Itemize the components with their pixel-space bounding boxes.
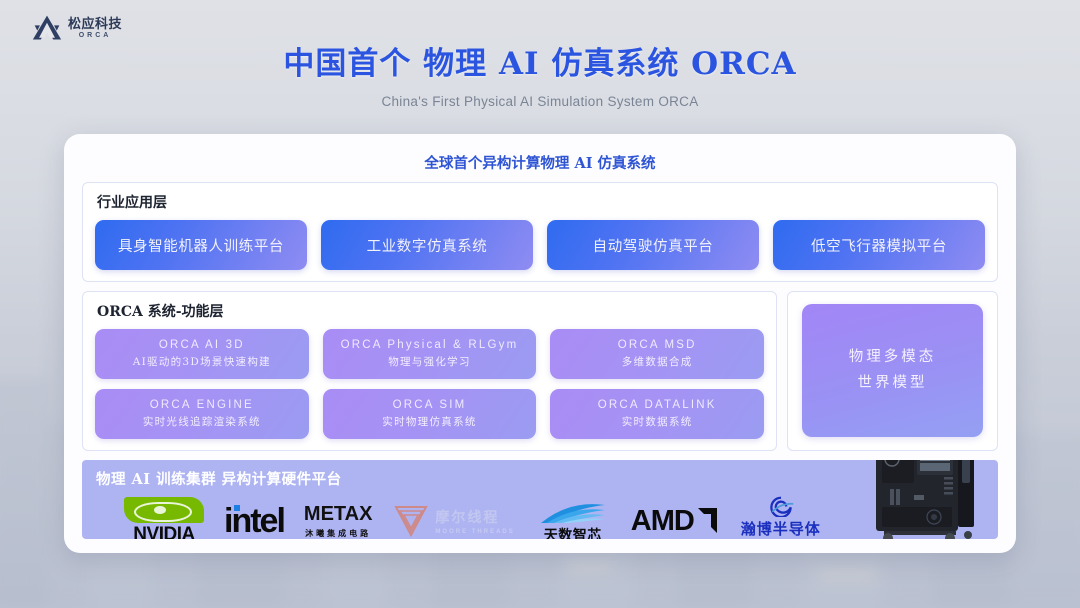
intel-wordmark: intel bbox=[224, 502, 284, 539]
function-item-title: ORCA ENGINE bbox=[150, 399, 254, 411]
function-item-desc: 实时光线追踪渲染系统 bbox=[143, 414, 261, 429]
architecture-card: 全球首个异构计算物理 AI 仿真系统 行业应用层 具身智能机器人训练平台 工业数… bbox=[64, 134, 1016, 553]
function-item-title: ORCA SIM bbox=[393, 399, 467, 411]
industry-item-low-altitude-aircraft-sim[interactable]: 低空飞行器模拟平台 bbox=[773, 220, 985, 270]
function-layer-grid: ORCA AI 3D AI驱动的3D场景快速构建 ORCA Physical &… bbox=[95, 329, 764, 439]
moore-threads-name-en: MOORE THREADS bbox=[435, 529, 514, 535]
function-item-title: ORCA DATALINK bbox=[598, 399, 717, 411]
server-rack-cabinet-photo bbox=[862, 460, 982, 539]
moore-threads-triangle-icon bbox=[392, 501, 430, 539]
metax-logo: METAX 沐曦集成电路 bbox=[304, 503, 373, 539]
function-item-title: ORCA MSD bbox=[618, 339, 697, 351]
world-model-panel: 物理多模态 世界模型 bbox=[787, 291, 998, 451]
vastai-swirl-icon bbox=[761, 496, 801, 517]
function-item-orca-physical-rlgym[interactable]: ORCA Physical & RLGym 物理与强化学习 bbox=[323, 329, 537, 379]
function-item-desc: 实时物理仿真系统 bbox=[382, 414, 476, 429]
amd-arrow-icon bbox=[695, 507, 718, 534]
function-item-desc: AI驱动的3D场景快速构建 bbox=[133, 354, 271, 369]
industry-layer-panel: 行业应用层 具身智能机器人训练平台 工业数字仿真系统 自动驾驶仿真平台 低空飞行… bbox=[82, 182, 998, 282]
function-item-desc: 物理与强化学习 bbox=[388, 354, 471, 369]
vendor-logo-row: NVIDIA intel METAX 沐曦集成电路 bbox=[96, 493, 984, 539]
page-subtitle: China's First Physical AI Simulation Sys… bbox=[0, 94, 1080, 109]
moore-threads-logo: 摩尔线程 MOORE THREADS bbox=[392, 501, 514, 539]
function-item-title: ORCA AI 3D bbox=[159, 339, 245, 351]
function-item-desc: 多维数据合成 bbox=[622, 354, 693, 369]
metax-wordmark: METAX bbox=[304, 503, 373, 526]
metax-name-cn: 沐曦集成电路 bbox=[305, 528, 371, 539]
tianshu-name-cn: 天数智芯 bbox=[544, 525, 602, 540]
world-model-line1: 物理多模态 bbox=[849, 345, 937, 370]
vendor-intel: intel bbox=[224, 493, 284, 539]
hardware-layer-heading: 物理 AI 训练集群 异构计算硬件平台 bbox=[96, 468, 984, 489]
industry-layer-heading: 行业应用层 bbox=[97, 192, 985, 212]
industry-item-autonomous-driving-sim[interactable]: 自动驾驶仿真平台 bbox=[547, 220, 759, 270]
card-title: 全球首个异构计算物理 AI 仿真系统 bbox=[82, 146, 998, 182]
tianshu-zhixin-logo: 天数智芯 bbox=[535, 498, 611, 540]
function-item-orca-ai-3d[interactable]: ORCA AI 3D AI驱动的3D场景快速构建 bbox=[95, 329, 309, 379]
hardware-layer-panel: 物理 AI 训练集群 异构计算硬件平台 NVIDIA intel METAX 沐… bbox=[82, 460, 998, 539]
brand-name-cn: 松应科技 bbox=[68, 17, 122, 30]
vendor-moore-threads: 摩尔线程 MOORE THREADS bbox=[392, 493, 514, 539]
vendor-vastai: 瀚博半导体 VASTAI TECHNOLOGIES bbox=[738, 493, 824, 539]
function-item-orca-sim[interactable]: ORCA SIM 实时物理仿真系统 bbox=[323, 389, 537, 439]
vastai-logo: 瀚博半导体 VASTAI TECHNOLOGIES bbox=[738, 496, 824, 539]
page-title-block: 中国首个 物理 AI 仿真系统 ORCA China's First Physi… bbox=[0, 38, 1080, 109]
function-item-desc: 实时数据系统 bbox=[622, 414, 693, 429]
vendor-tianshu-zhixin: 天数智芯 bbox=[535, 493, 611, 539]
industry-item-industrial-digital-sim[interactable]: 工业数字仿真系统 bbox=[321, 220, 533, 270]
amd-logo: AMD bbox=[631, 507, 718, 536]
intel-wordmark-logo: intel bbox=[224, 504, 284, 538]
orca-function-layer-panel: ORCA 系统-功能层 ORCA AI 3D AI驱动的3D场景快速构建 ORC… bbox=[82, 291, 777, 451]
function-layer-region: ORCA 系统-功能层 ORCA AI 3D AI驱动的3D场景快速构建 ORC… bbox=[82, 291, 998, 451]
world-model-line2: 世界模型 bbox=[858, 371, 928, 396]
nvidia-wordmark: NVIDIA bbox=[133, 524, 194, 540]
nvidia-eye-logo: NVIDIA bbox=[124, 497, 204, 540]
function-item-orca-datalink[interactable]: ORCA DATALINK 实时数据系统 bbox=[550, 389, 764, 439]
vastai-name-cn: 瀚博半导体 bbox=[741, 518, 821, 539]
function-layer-heading: ORCA 系统-功能层 bbox=[97, 301, 764, 321]
vendor-metax: METAX 沐曦集成电路 bbox=[304, 493, 373, 539]
vendor-amd: AMD bbox=[631, 493, 718, 539]
tianshu-fan-icon bbox=[535, 498, 611, 524]
function-item-orca-msd[interactable]: ORCA MSD 多维数据合成 bbox=[550, 329, 764, 379]
function-item-orca-engine[interactable]: ORCA ENGINE 实时光线追踪渲染系统 bbox=[95, 389, 309, 439]
industry-layer-row: 具身智能机器人训练平台 工业数字仿真系统 自动驾驶仿真平台 低空飞行器模拟平台 bbox=[95, 220, 985, 270]
industry-item-robot-training[interactable]: 具身智能机器人训练平台 bbox=[95, 220, 307, 270]
moore-threads-name-cn: 摩尔线程 bbox=[435, 507, 514, 527]
vendor-nvidia: NVIDIA bbox=[124, 493, 204, 539]
amd-wordmark: AMD bbox=[631, 507, 694, 536]
page-title: 中国首个 物理 AI 仿真系统 ORCA bbox=[0, 38, 1080, 83]
world-model-chip[interactable]: 物理多模态 世界模型 bbox=[802, 304, 983, 437]
function-item-title: ORCA Physical & RLGym bbox=[341, 339, 519, 351]
